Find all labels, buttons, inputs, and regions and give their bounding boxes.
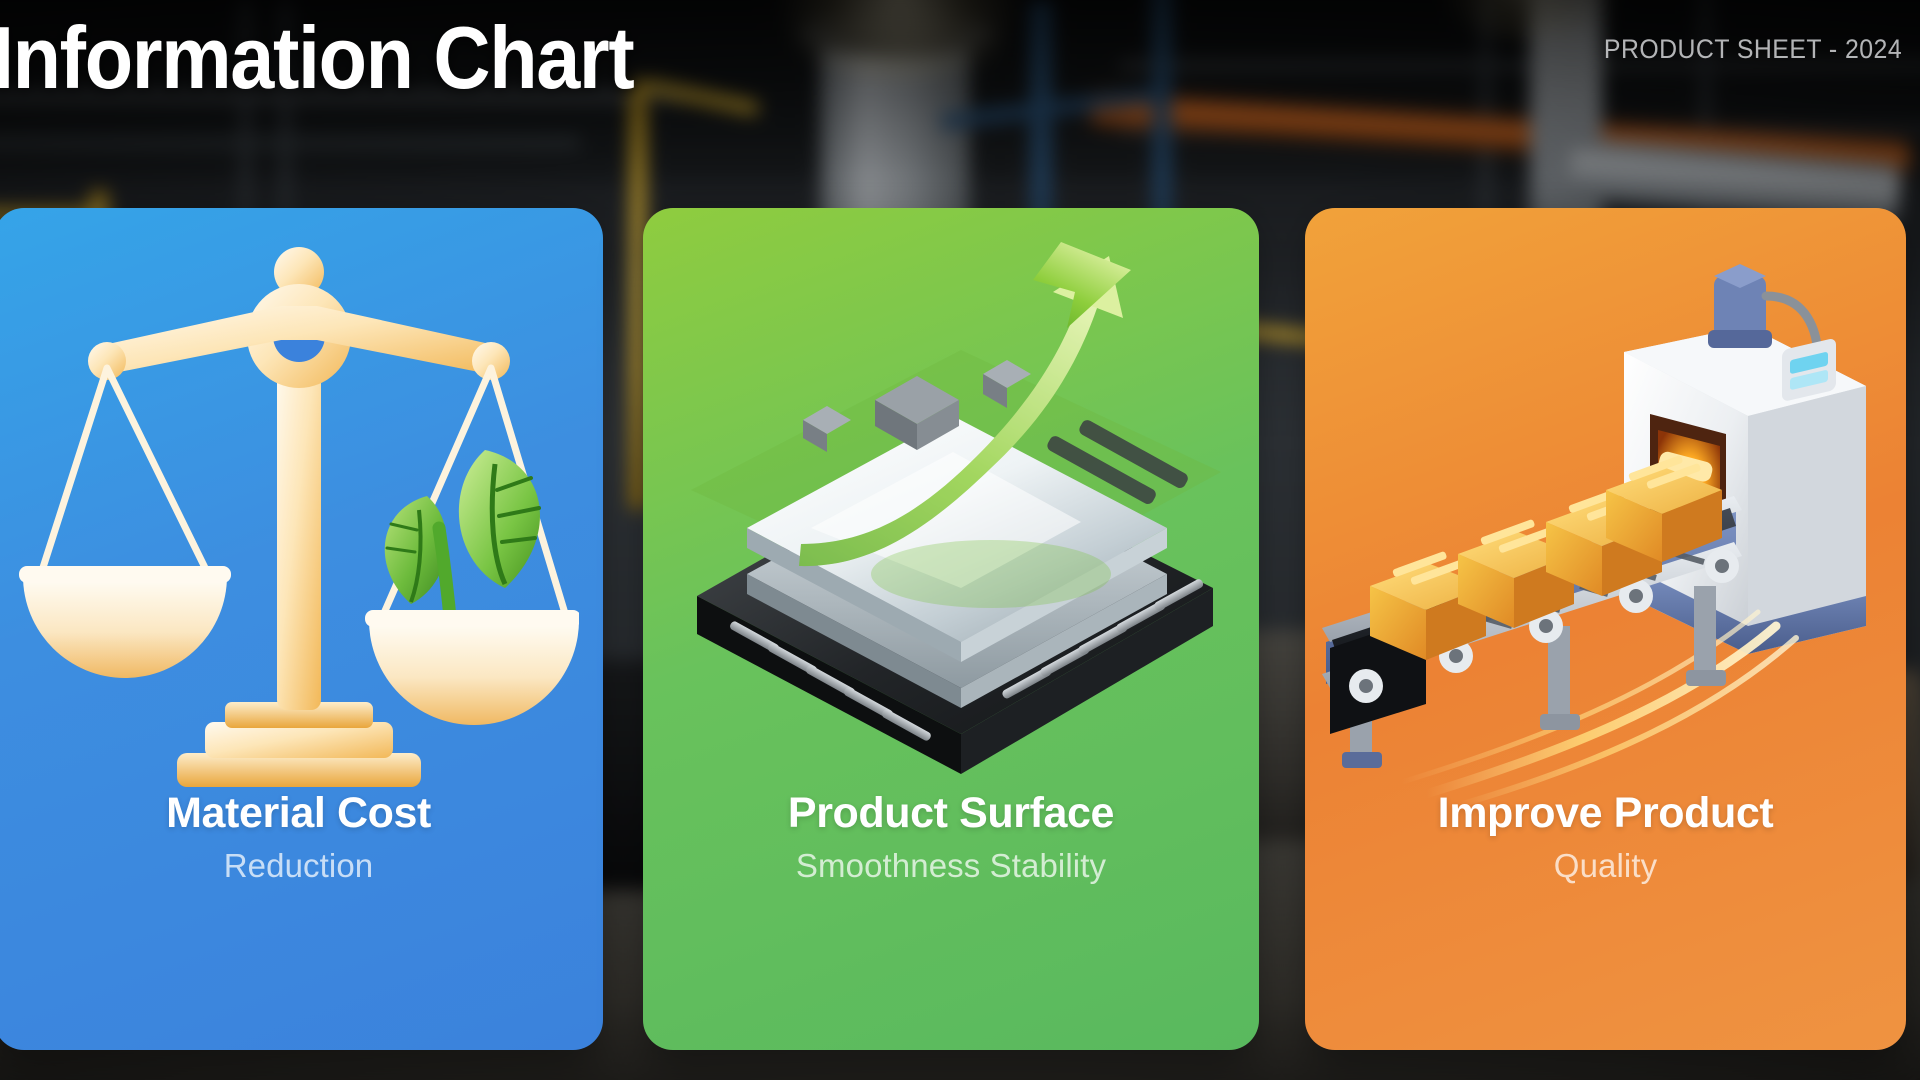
card-title: Material Cost [0,790,603,837]
cards-row: Material Cost Reduction [0,208,1920,1053]
card-title: Product Surface [643,790,1259,837]
card-subtitle: Quality [1305,847,1906,885]
page-title: Information Chart [0,14,633,102]
document-kicker: PRODUCT SHEET - 2024 [1604,34,1902,65]
card-material-cost[interactable]: Material Cost Reduction [0,208,603,1050]
card-subtitle: Smoothness Stability [643,847,1259,885]
glossy-wafer-plate-rising-arrow-icon [643,208,1259,808]
card-improve-product[interactable]: Improve Product Quality [1305,208,1906,1050]
card-caption: Material Cost Reduction [0,790,603,885]
conveyor-belt-furnace-icon [1305,208,1906,808]
card-subtitle: Reduction [0,847,603,885]
poster-canvas: Information Chart PRODUCT SHEET - 2024 [0,0,1920,1080]
card-caption: Improve Product Quality [1305,790,1906,885]
card-caption: Product Surface Smoothness Stability [643,790,1259,885]
card-title: Improve Product [1305,790,1906,837]
card-product-surface[interactable]: Product Surface Smoothness Stability [643,208,1259,1050]
balance-scale-with-leaves-icon [0,208,603,808]
